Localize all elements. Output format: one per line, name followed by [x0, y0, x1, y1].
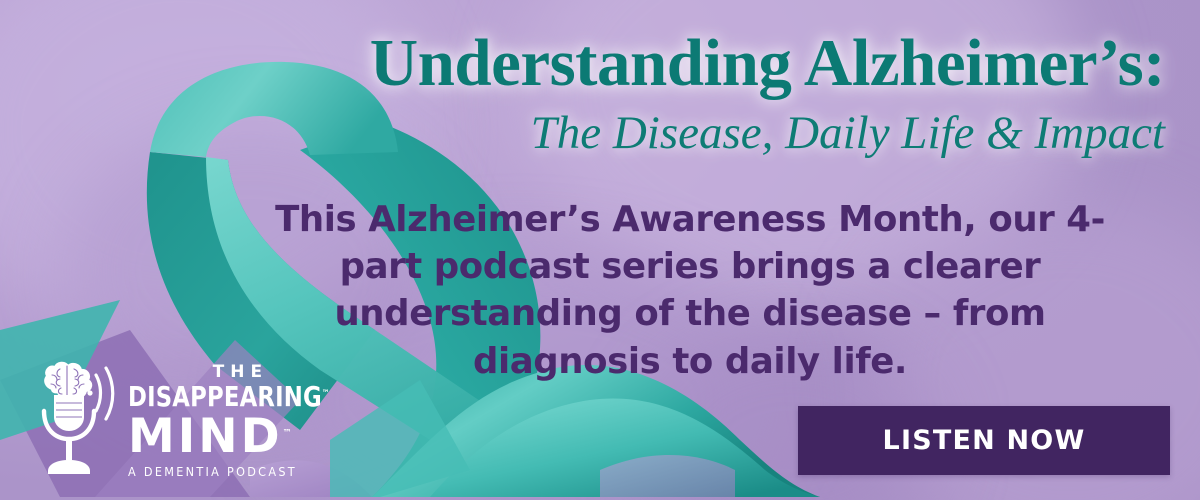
promo-banner: Understanding Alzheimer’s: The Disease, … [0, 0, 1200, 500]
logo-mind-word: MIND [128, 409, 283, 464]
trademark-symbol: ™ [322, 388, 329, 398]
listen-now-label: LISTEN NOW [883, 425, 1086, 456]
logo-line-the: THE [134, 364, 347, 381]
logo-tagline: A DEMENTIA PODCAST [128, 466, 347, 479]
logo-disappearing-word: DISAPPEARING [128, 381, 322, 413]
podcast-logo-text: THE DISAPPEARING™ MIND™ A DEMENTIA PODCA… [128, 364, 347, 479]
headline-main: Understanding Alzheimer’s: [180, 30, 1165, 97]
headline-block: Understanding Alzheimer’s: The Disease, … [180, 30, 1165, 160]
headline-sub: The Disease, Daily Life & Impact [180, 107, 1165, 160]
podcast-logo[interactable]: THE DISAPPEARING™ MIND™ A DEMENTIA PODCA… [30, 356, 295, 486]
listen-now-button[interactable]: LISTEN NOW [798, 406, 1170, 475]
brain-microphone-icon [30, 359, 122, 483]
trademark-symbol: ™ [283, 428, 292, 438]
body-paragraph: This Alzheimer’s Awareness Month, our 4-… [250, 196, 1130, 385]
logo-line-mind: MIND™ [128, 413, 347, 460]
logo-line-disappearing: DISAPPEARING™ [128, 384, 329, 412]
